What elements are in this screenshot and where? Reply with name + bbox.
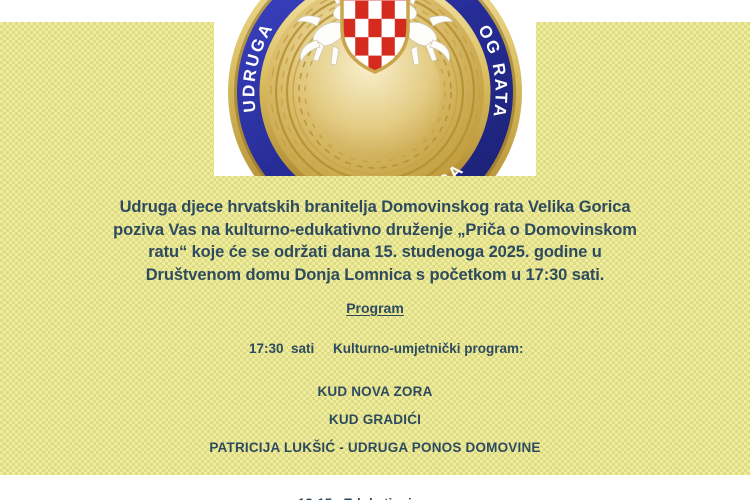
performer-item-1: KUD NOVA ZORA [0, 384, 750, 399]
poster-text-area: Udruga djece hrvatskih branitelja Domovi… [0, 196, 750, 500]
performer-item-3: PATRICIJA LUKŠIĆ - UDRUGA PONOS DOMOVINE [0, 440, 750, 455]
educational-program-row: 18:15 Edukativni program: [0, 481, 750, 500]
program-entry-time: 17:30 sati [249, 341, 314, 356]
educational-program-label: Edukativni program: [344, 496, 475, 500]
association-emblem: UDRUGA OG RATA VELIKA GORICA [225, 0, 525, 176]
headline-line-3: ratu“ koje će se održati dana 15. studen… [62, 241, 688, 264]
emblem-card: UDRUGA OG RATA VELIKA GORICA [214, 0, 536, 176]
headline-line-2: poziva Vas na kulturno-edukativno družen… [62, 219, 688, 242]
educational-program-time: 18:15 [298, 496, 333, 500]
event-poster: UDRUGA OG RATA VELIKA GORICA Udruga djec… [0, 0, 750, 500]
program-entry-row: 17:30 sati Kulturno-umjetnički program: [0, 326, 750, 371]
emblem-svg: UDRUGA OG RATA VELIKA GORICA [225, 0, 525, 176]
program-entry-gap [314, 341, 333, 356]
educational-program-gap [332, 496, 343, 500]
program-entry-label: Kulturno-umjetnički program: [333, 341, 524, 356]
headline-line-4: Društvenom domu Donja Lomnica s početkom… [62, 264, 688, 287]
program-heading: Program [0, 300, 750, 316]
headline-block: Udruga djece hrvatskih branitelja Domovi… [0, 196, 750, 286]
performer-item-2: KUD GRADIĆI [0, 412, 750, 427]
headline-line-1: Udruga djece hrvatskih branitelja Domovi… [62, 196, 688, 219]
